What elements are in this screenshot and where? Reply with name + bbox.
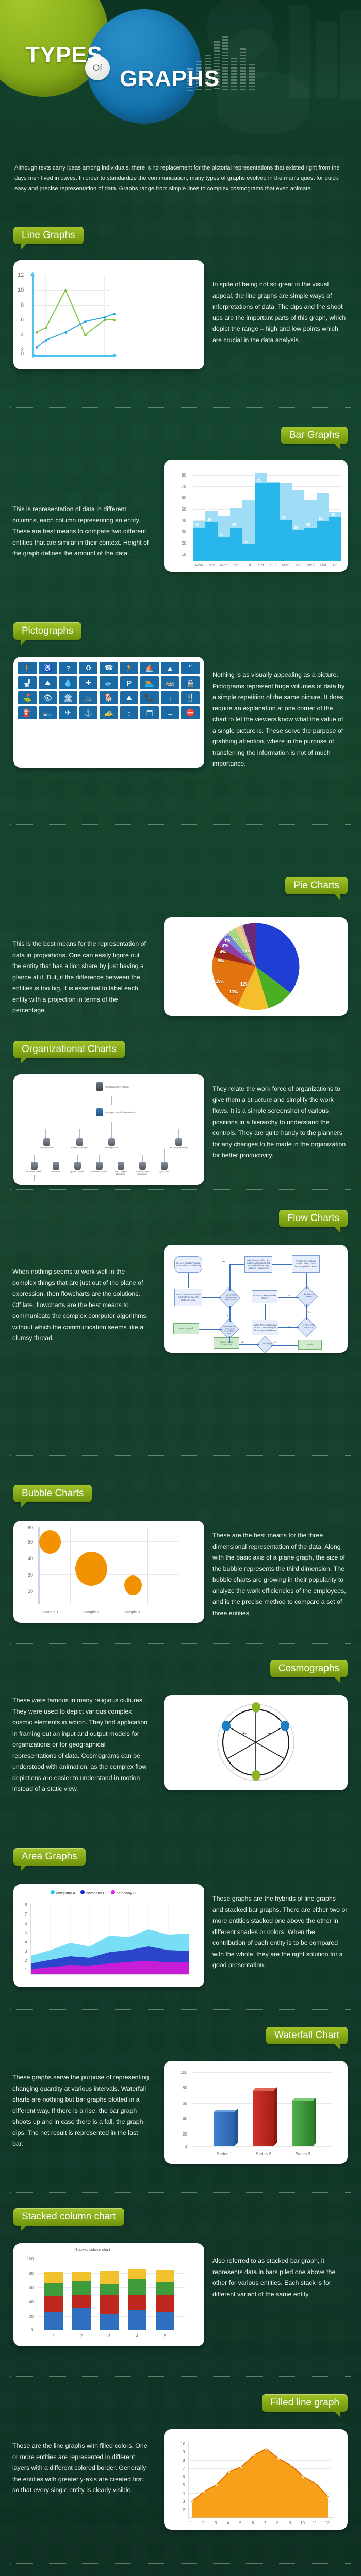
section-body-filled-line-graph: These are the line graphs with filled co… xyxy=(12,2441,150,2496)
pictograph-icon-grid: 🚶 ♿ ? ♻ ☎ 🏃 ⛵ ▲ ⌜ 🚽 ⛰ 💧 ✚ 🐟 P 🏊 🚌 🚆 ⛳ 👁 … xyxy=(13,657,204,724)
flow-decision: Do I have the time and resources to buil… xyxy=(223,1323,236,1334)
section-natural-cubic-splines: Natural cubic splines Control points sho… xyxy=(0,2571,361,2576)
bar-graph-card: 80 70 60 50 40 30 20 10 xyxy=(164,460,348,572)
section-body-bar-graphs: This is representation of data in differ… xyxy=(12,504,150,560)
flow-edge-label: No xyxy=(288,1294,290,1297)
bubble-chart-card: 60 50 40 30 20 Sample 1 Sample 2 Sample … xyxy=(13,1521,204,1623)
flow-node: Use it xyxy=(298,1340,322,1350)
org-node-label: Marketing Manager xyxy=(169,1146,188,1149)
section-body-pictographs: Nothing is as visually appealing as a pi… xyxy=(212,670,348,770)
section-bar-graphs: Bar Graphs 80 70 60 50 40 30 20 10 xyxy=(0,412,361,582)
page-title-graphs: GRAPHS xyxy=(120,66,220,92)
restroom-icon: 🚽 xyxy=(18,676,37,689)
area-graph-card: company A company B company C 8 7 6 5 4 … xyxy=(13,1884,204,1987)
bubble-x-label: Sample 1 xyxy=(42,1609,59,1614)
flow-edge-label: Yes xyxy=(273,1341,277,1343)
elevator-icon: ↕ xyxy=(120,706,139,719)
filled-line-svg xyxy=(164,2429,348,2530)
cosmogram-node xyxy=(252,1770,260,1781)
section-area-graphs: Area Graphs company A company B company … xyxy=(0,1826,361,2002)
flow-node: Build it for me (Outsource) xyxy=(214,1337,239,1349)
flow-edge-label: Yes xyxy=(222,1260,225,1263)
section-line-graphs: Line Graphs 12 10 8 6 4 2 0 xyxy=(0,222,361,392)
flow-node: Pick the most suitable solution based on… xyxy=(292,1255,320,1273)
camping-icon: ▲ xyxy=(161,662,179,674)
fuel-icon: ⛽ xyxy=(18,706,37,719)
pie-chart-svg xyxy=(210,921,301,1012)
waterfall-category: Series 2 xyxy=(253,2151,274,2156)
org-node-label: Manager Admin/Finance/HR xyxy=(105,1111,135,1114)
section-title-flow-charts: Flow Charts xyxy=(279,1210,348,1227)
section-body-line-graphs: In spite of being not so great in the vi… xyxy=(212,279,347,346)
phone-box-icon: 📞 xyxy=(140,691,159,704)
org-node-label: Network Admin xyxy=(91,1170,107,1173)
flow-edge-label: No xyxy=(226,1314,228,1316)
info-icon: i xyxy=(161,691,179,704)
flow-edge-label: No xyxy=(241,1341,244,1343)
bubble-x-label: Sample 3 xyxy=(124,1609,140,1614)
boat-ramp-icon: ⛵ xyxy=(140,662,159,674)
section-body-organizational-charts: They relate the work force of organizati… xyxy=(212,1083,348,1161)
org-node-label: Chief Executive Officer xyxy=(105,1086,129,1088)
decor-bar-3 xyxy=(340,10,361,100)
svg-text:+: + xyxy=(241,1728,247,1738)
airport-icon: ✈ xyxy=(59,706,77,719)
section-title-waterfall-chart: Waterfall Chart xyxy=(266,2027,348,2044)
swimming-icon: 🏊 xyxy=(140,676,159,689)
trail-icon: ⛰ xyxy=(120,691,139,704)
section-flow-charts: Flow Charts I need a capability added to… xyxy=(0,1194,361,1375)
org-node-label: HR Executive xyxy=(40,1146,54,1149)
playground-icon: ⛳ xyxy=(18,691,37,704)
org-node-label: Team Lead xyxy=(50,1170,61,1173)
org-chart-card: Chief Executive Officer Manager Admin/Fi… xyxy=(13,1074,204,1185)
waterfall-category: Series 3 xyxy=(292,2151,314,2156)
telephone-icon: ☎ xyxy=(100,662,118,674)
shelter-icon: ⛰ xyxy=(39,676,57,689)
bubble-point xyxy=(75,1552,107,1586)
org-node-label: Lead Graphic Designer xyxy=(114,1170,127,1175)
waterfall-chart-card: 100 80 60 40 20 0 Series 1 Series 2 Seri… xyxy=(164,2061,348,2164)
area-graph-svg xyxy=(13,1884,204,1987)
section-filled-line-graph: Filled line graph 10 9 8 7 6 5 4 3 2 xyxy=(0,2383,361,2553)
org-node-label: Manager QA xyxy=(105,1146,118,1149)
wheelchair-icon: ♿ xyxy=(39,662,57,674)
section-body-flow-charts: When nothing seems to work well in the c… xyxy=(12,1266,150,1344)
section-body-cosmographs: These were famous in many religious cult… xyxy=(12,1695,150,1795)
bus-icon: 🚌 xyxy=(161,676,179,689)
viewpoint-icon: 👁 xyxy=(39,691,57,704)
section-pictographs: Pictographs 🚶 ♿ ? ♻ ☎ 🏃 ⛵ ▲ ⌜ 🚽 ⛰ 💧 ✚ 🐟 … xyxy=(0,608,361,783)
page-title-graphs-text: GRAPHS xyxy=(120,66,220,91)
intro-paragraph: Although texts carry ideas among individ… xyxy=(14,163,348,194)
section-bubble-charts: Bubble Charts 60 50 40 30 20 Sample 1 Sa… xyxy=(0,1463,361,1633)
drinking-water-icon: 💧 xyxy=(59,676,77,689)
decor-bar-2 xyxy=(316,21,337,98)
section-body-waterfall-chart: These graphs serve the purpose of repres… xyxy=(12,2072,150,2150)
litter-icon: ♻ xyxy=(79,662,98,674)
filled-line-card: 10 9 8 7 6 5 4 3 2 1 2 3 4 5 6 7 8 xyxy=(164,2429,348,2530)
org-node-label: Business Dev Executive xyxy=(136,1170,150,1175)
org-node-label: Project Manager xyxy=(71,1146,88,1149)
food-icon: 🍴 xyxy=(181,691,200,704)
section-body-pie-charts: This is the best means for the represent… xyxy=(12,939,150,1016)
section-title-filled-line-graph: Filled line graph xyxy=(262,2394,348,2412)
stairs-icon: ▤ xyxy=(140,706,159,719)
pictograph-card: 🚶 ♿ ? ♻ ☎ 🏃 ⛵ ▲ ⌜ 🚽 ⛰ 💧 ✚ 🐟 P 🏊 🚌 🚆 ⛳ 👁 … xyxy=(13,657,204,768)
section-title-area-graphs: Area Graphs xyxy=(13,1848,86,1866)
infographic-header: TYPES Of GRAPHS xyxy=(0,0,361,155)
crosswalk-icon: 🚶 xyxy=(18,662,37,674)
section-organizational-charts: Organizational Charts Chief Executive Of… xyxy=(0,1028,361,1208)
lodging-icon: 🛌 xyxy=(39,706,57,719)
picnic-icon: ⌜ xyxy=(181,662,200,674)
section-title-pictographs: Pictographs xyxy=(13,622,81,640)
question-icon: ? xyxy=(59,662,77,674)
flow-node: Asses if the solution can be used consid… xyxy=(252,1320,278,1335)
section-cosmographs: Cosmographs + − These were famous in man… xyxy=(0,1649,361,1819)
org-node-label: System Analyst xyxy=(70,1170,85,1173)
bicycle-icon: 🚲 xyxy=(79,691,98,704)
stacked-column-card: Stacked column chart 100 80 60 40 20 0 xyxy=(13,2243,204,2346)
page-title-of-badge: Of xyxy=(85,56,110,80)
bubble-point xyxy=(124,1575,142,1595)
stacked-chart-title: Stacked column chart xyxy=(75,2248,110,2252)
cosmogram-node xyxy=(281,1721,289,1731)
section-title-organizational-charts: Organizational Charts xyxy=(13,1041,125,1058)
flow-node: Pick the closest possible choice xyxy=(252,1290,277,1303)
flow-edge-label: Yes xyxy=(307,1311,311,1313)
svg-text:−: − xyxy=(267,1728,273,1738)
ferry-icon: ⚓ xyxy=(79,706,98,719)
section-title-line-graphs: Line Graphs xyxy=(13,227,84,244)
section-waterfall-chart: Waterfall Chart 100 80 60 40 20 0 Series… xyxy=(0,2015,361,2185)
pets-icon: 🐕 xyxy=(100,691,118,704)
flow-node: I need a capability added to the solutio… xyxy=(174,1256,202,1273)
line-graph-series xyxy=(13,260,204,369)
first-aid-icon: ✚ xyxy=(79,676,98,689)
section-title-bar-graphs: Bar Graphs xyxy=(281,427,348,444)
museum-icon: 🏛 xyxy=(59,691,77,704)
cosmogram-node xyxy=(222,1721,231,1731)
section-body-stacked-column-chart: Also referred to as stacked bar graph, i… xyxy=(212,2256,348,2300)
section-body-area-graphs: These graphs are the hybrids of line gra… xyxy=(212,1893,348,1971)
section-title-cosmographs: Cosmographs xyxy=(270,1660,348,1677)
flow-node: Write down what I exactly need with the … xyxy=(174,1289,202,1306)
org-node-label: QA Lead xyxy=(159,1170,168,1173)
waterfall-category: Series 1 xyxy=(214,2151,235,2156)
flow-decision: Has someone already built what I need? xyxy=(224,1291,238,1301)
cosmograph-card: + − xyxy=(164,1695,348,1790)
bubble-point xyxy=(39,1530,61,1554)
fishing-icon: 🐟 xyxy=(100,676,118,689)
cosmogram-node xyxy=(252,1702,260,1713)
flow-edge-label: No xyxy=(288,1325,290,1327)
flow-node: Take the time to find and explore all so… xyxy=(244,1256,272,1273)
section-title-bubble-charts: Bubble Charts xyxy=(13,1485,92,1502)
flow-decision: Do I have a finalist? xyxy=(302,1291,317,1298)
flow-decision: Is it the ideal solution? xyxy=(302,1321,315,1329)
section-title-stacked-column-chart: Stacked column chart xyxy=(13,2208,124,2226)
pie-chart-card: 26% 12% 13% 19% 8% 4% 3% 4% 2% 1% 9% xyxy=(164,917,348,1016)
section-pie-charts: Pie Charts 26% 12% 13% 19% 8% 4% 3% 4% xyxy=(0,829,361,1005)
page-title-of-text: Of xyxy=(93,63,102,73)
waterfall-bar xyxy=(292,2101,314,2146)
train-icon: 🚆 xyxy=(181,676,200,689)
flow-node: Build it Myself xyxy=(173,1323,199,1334)
parking-icon: P xyxy=(120,676,139,689)
section-body-bubble-charts: These are the best means for the three d… xyxy=(212,1530,348,1619)
section-title-pie-charts: Pie Charts xyxy=(285,877,348,894)
bubble-x-label: Sample 2 xyxy=(83,1609,100,1614)
flow-decision: Is it a go? xyxy=(261,1340,273,1345)
section-stacked-column-chart: Stacked column chart Stacked column char… xyxy=(0,2199,361,2369)
taxi-icon: 🚕 xyxy=(100,706,118,719)
line-graph-card: 12 10 8 6 4 2 0 xyxy=(13,260,204,369)
org-node-label: Assistant Admin xyxy=(26,1170,42,1173)
hiking-icon: 🏃 xyxy=(120,662,139,674)
waterfall-bar xyxy=(253,2091,274,2146)
waterfall-bar xyxy=(214,2112,235,2146)
flow-chart-card: I need a capability added to the solutio… xyxy=(164,1245,348,1353)
no-entry-icon: ⛔ xyxy=(181,706,200,719)
exit-icon: → xyxy=(161,706,179,719)
